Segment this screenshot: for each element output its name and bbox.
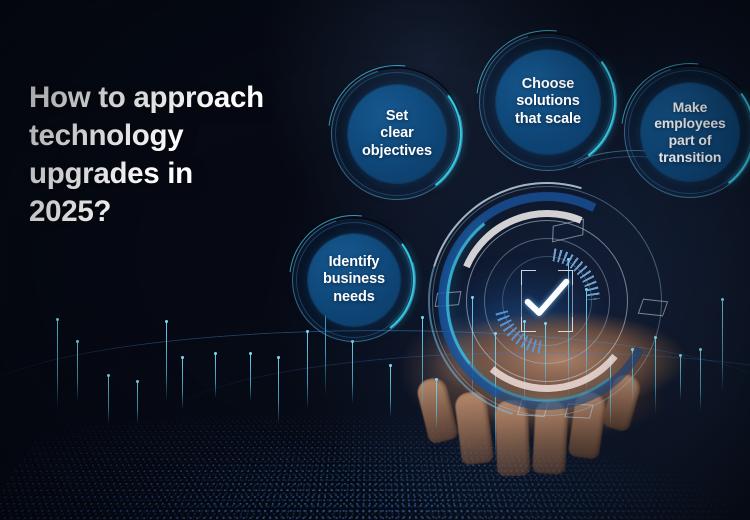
step-badge-choose-solutions-that-scale[interactable]: Choose solutions that scale	[479, 33, 617, 171]
step-badge-make-employees-part-of-transition[interactable]: Make employees part of transition	[624, 66, 750, 198]
hud-checkmark-graphic	[428, 182, 666, 420]
step-badge-label: Identify business needs	[323, 254, 385, 305]
page-title: How to approach technology upgrades in 2…	[29, 79, 349, 231]
badge-disc: Choose solutions that scale	[496, 50, 600, 154]
step-badge-set-clear-objectives[interactable]: Set clear objectives	[331, 68, 463, 200]
step-badge-identify-business-needs[interactable]: Identify business needs	[292, 218, 416, 342]
badge-disc: Identify business needs	[308, 234, 400, 326]
checkmark-icon	[524, 274, 570, 328]
step-badge-label: Set clear objectives	[362, 108, 432, 159]
badge-disc: Make employees part of transition	[641, 83, 739, 181]
poster-canvas: How to approach technology upgrades in 2…	[0, 0, 750, 520]
badge-disc: Set clear objectives	[348, 85, 446, 183]
step-badge-label: Make employees part of transition	[654, 99, 725, 165]
step-badge-label: Choose solutions that scale	[515, 76, 581, 127]
